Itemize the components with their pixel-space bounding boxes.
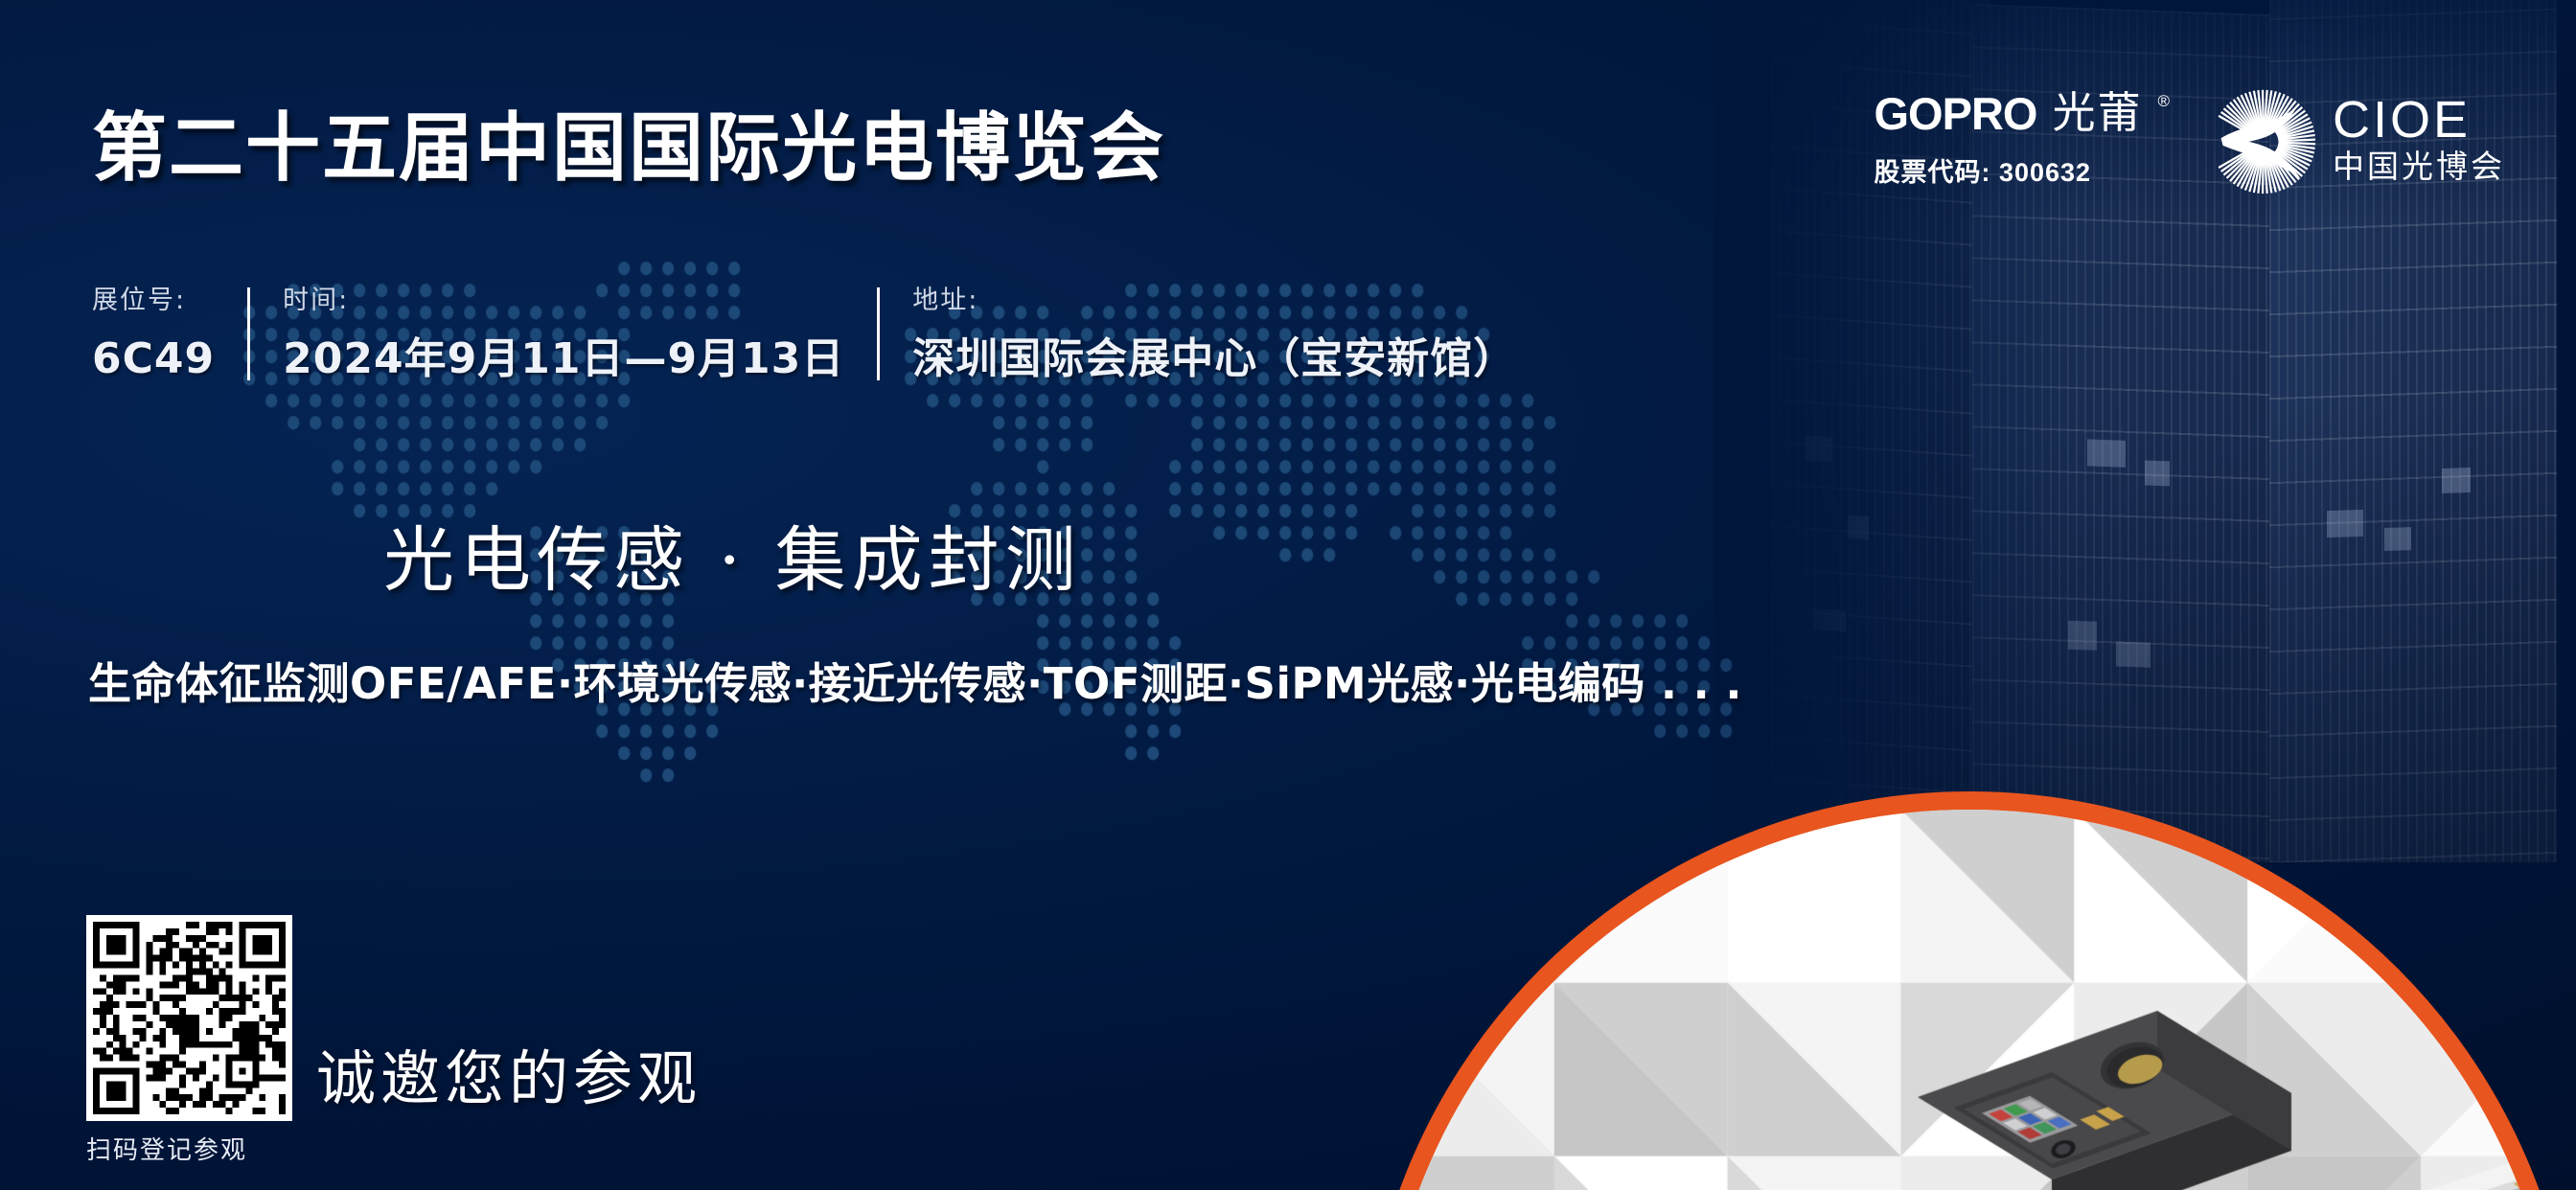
main-slogan: 光电传感 · 集成封测 [383, 503, 1082, 606]
product-circle [1363, 791, 2576, 1190]
gopro-logo: GOPRO 光莆 ® 股票代码: 300632 [1874, 91, 2170, 189]
date-label: 时间: [283, 287, 844, 313]
booth-number: 6C49 [92, 338, 215, 380]
address-info: 地址: 深圳国际会展中心（宝安新馆） [880, 287, 1549, 380]
sensor-chip-products [1381, 810, 2576, 1190]
gopro-chinese-name: 光莆 [2052, 91, 2142, 134]
invitation-text: 诚邀您的参观 [316, 1030, 701, 1116]
product-keywords: 生命体征监测OFE/AFE·环境光传感·接近光传感·TOF测距·SiPM光感·光… [88, 649, 1742, 711]
qr-caption: 扫码登记参观 [86, 1131, 292, 1166]
gopro-wordmark: GOPRO [1874, 91, 2036, 136]
booth-label: 展位号: [92, 287, 215, 313]
date-info: 时间: 2024年9月11日—9月13日 [250, 287, 877, 380]
qr-block: 扫码登记参观 [86, 915, 292, 1166]
booth-info: 展位号: 6C49 [92, 287, 247, 380]
stock-code-label: 股票代码: 300632 [1874, 151, 2170, 189]
cioe-logo: CIOE 中国光博会 [2202, 84, 2505, 195]
cioe-acronym: CIOE [2333, 93, 2505, 147]
product-showcase [1363, 791, 2576, 1190]
registered-trademark-icon: ® [2157, 93, 2170, 109]
qr-code-icon[interactable] [86, 915, 292, 1121]
page-title: 第二十五届中国国际光电博览会 [92, 88, 1165, 195]
event-info-row: 展位号: 6C49 时间: 2024年9月11日—9月13日 地址: 深圳国际会… [92, 287, 1549, 380]
address-label: 地址: [912, 287, 1516, 313]
exhibition-banner: 第二十五届中国国际光电博览会 GOPRO 光莆 ® 股票代码: 300632 C… [0, 0, 2576, 1190]
address-value: 深圳国际会展中心（宝安新馆） [912, 338, 1516, 380]
cioe-fan-icon [2208, 84, 2319, 195]
cioe-chinese-name: 中国光博会 [2333, 147, 2505, 186]
date-value: 2024年9月11日—9月13日 [283, 338, 844, 380]
logo-group: GOPRO 光莆 ® 股票代码: 300632 CIOE 中国光博会 [1874, 84, 2505, 195]
